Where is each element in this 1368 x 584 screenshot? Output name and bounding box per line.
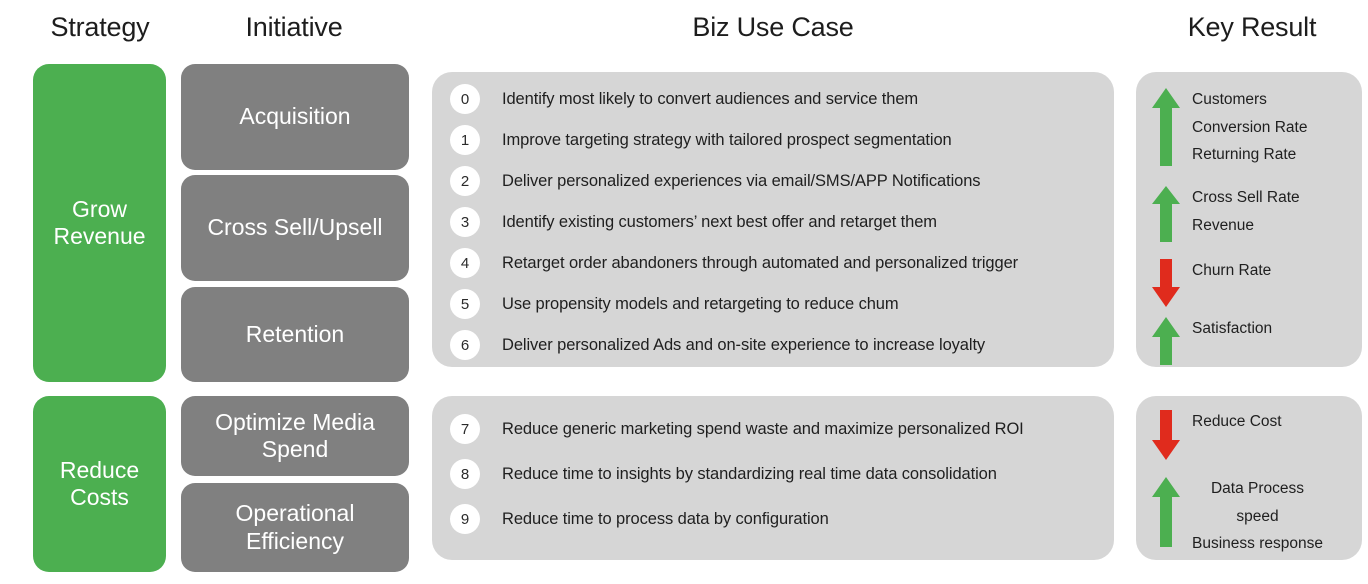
use-case-number-badge: 6 xyxy=(450,330,480,360)
use-case-number-badge: 8 xyxy=(450,459,480,489)
arrow-down-icon xyxy=(1150,257,1182,314)
use-case-row[interactable]: 1 Improve targeting strategy with tailor… xyxy=(450,126,1104,154)
use-case-row[interactable]: 3 Identify existing customers’ next best… xyxy=(450,208,1104,236)
key-result-label: Business response xyxy=(1192,530,1323,558)
use-case-text: Use propensity models and retargeting to… xyxy=(502,295,899,314)
use-case-text: Reduce time to process data by configura… xyxy=(502,510,829,529)
initiative-label-line1: Retention xyxy=(246,321,344,347)
use-case-number-badge: 5 xyxy=(450,289,480,319)
key-result-group[interactable]: Cross Sell Rate Revenue xyxy=(1150,184,1300,249)
biz-use-case-panel-growth: 0 Identify most likely to convert audien… xyxy=(432,72,1114,367)
initiative-box-cross-sell-upsell[interactable]: Cross Sell/Upsell xyxy=(181,175,409,281)
initiative-label-line2: Efficiency xyxy=(246,528,344,554)
key-result-panel-cost: Reduce Cost Data Process speed Business … xyxy=(1136,396,1362,560)
initiative-label: Operational Efficiency xyxy=(236,500,355,554)
use-case-text: Improve targeting strategy with tailored… xyxy=(502,131,952,150)
key-result-label: Data Process xyxy=(1192,475,1323,503)
use-case-text: Identify most likely to convert audience… xyxy=(502,90,918,109)
use-case-number-badge: 0 xyxy=(450,84,480,114)
initiative-box-acquisition[interactable]: Acquisition xyxy=(181,64,409,170)
strategy-label: Grow Revenue xyxy=(53,196,145,250)
use-case-number-badge: 9 xyxy=(450,504,480,534)
key-result-labels: Data Process speed Business response xyxy=(1192,475,1323,558)
arrow-down-icon xyxy=(1150,408,1182,467)
biz-use-case-panel-cost: 7 Reduce generic marketing spend waste a… xyxy=(432,396,1114,560)
key-result-label: Customers xyxy=(1192,86,1307,114)
use-case-number-badge: 7 xyxy=(450,414,480,444)
initiative-box-optimize-media-spend[interactable]: Optimize Media Spend xyxy=(181,396,409,476)
arrow-up-icon xyxy=(1150,184,1182,249)
initiative-label-line1: Cross Sell/Upsell xyxy=(207,214,382,240)
initiative-label-line1: Operational xyxy=(236,500,355,526)
use-case-number-badge: 2 xyxy=(450,166,480,196)
key-result-group[interactable]: Satisfaction xyxy=(1150,315,1272,372)
use-case-row[interactable]: 6 Deliver personalized Ads and on-site e… xyxy=(450,331,1104,359)
use-case-text: Reduce time to insights by standardizing… xyxy=(502,465,997,484)
key-result-label: speed xyxy=(1192,503,1323,531)
use-case-row[interactable]: 8 Reduce time to insights by standardizi… xyxy=(450,460,1104,488)
key-result-labels: Satisfaction xyxy=(1192,315,1272,343)
arrow-up-icon xyxy=(1150,86,1182,173)
initiative-label: Cross Sell/Upsell xyxy=(207,214,382,241)
use-case-number-badge: 3 xyxy=(450,207,480,237)
column-header-biz-use-case: Biz Use Case xyxy=(432,12,1114,43)
initiative-label: Optimize Media Spend xyxy=(215,409,375,463)
use-case-row[interactable]: 7 Reduce generic marketing spend waste a… xyxy=(450,415,1104,443)
strategy-box-reduce-costs[interactable]: Reduce Costs xyxy=(33,396,166,572)
key-result-label: Revenue xyxy=(1192,212,1300,240)
use-case-text: Deliver personalized Ads and on-site exp… xyxy=(502,336,985,355)
initiative-box-retention[interactable]: Retention xyxy=(181,287,409,382)
use-case-text: Identify existing customers’ next best o… xyxy=(502,213,937,232)
initiative-label: Retention xyxy=(246,321,344,348)
use-case-text: Reduce generic marketing spend waste and… xyxy=(502,420,1024,439)
use-case-number-badge: 4 xyxy=(450,248,480,278)
column-header-initiative: Initiative xyxy=(180,12,408,43)
initiative-label-line2: Spend xyxy=(262,436,329,462)
key-result-group[interactable]: Churn Rate xyxy=(1150,257,1271,314)
key-result-labels: Reduce Cost xyxy=(1192,408,1282,436)
use-case-number-badge: 1 xyxy=(450,125,480,155)
key-result-label: Reduce Cost xyxy=(1192,408,1282,436)
key-result-label: Churn Rate xyxy=(1192,257,1271,285)
column-header-key-result: Key Result xyxy=(1136,12,1368,43)
arrow-up-icon xyxy=(1150,475,1182,554)
use-case-row[interactable]: 5 Use propensity models and retargeting … xyxy=(450,290,1104,318)
strategy-label-line2: Revenue xyxy=(53,223,145,249)
key-result-labels: Cross Sell Rate Revenue xyxy=(1192,184,1300,239)
initiative-label-line1: Optimize Media xyxy=(215,409,375,435)
strategy-label-line1: Reduce xyxy=(60,457,139,483)
use-case-text: Deliver personalized experiences via ema… xyxy=(502,172,980,191)
arrow-up-icon xyxy=(1150,315,1182,372)
use-case-row[interactable]: 0 Identify most likely to convert audien… xyxy=(450,85,1104,113)
use-case-text: Retarget order abandoners through automa… xyxy=(502,254,1018,273)
key-result-label: Satisfaction xyxy=(1192,315,1272,343)
use-case-row[interactable]: 9 Reduce time to process data by configu… xyxy=(450,505,1104,533)
initiative-box-operational-efficiency[interactable]: Operational Efficiency xyxy=(181,483,409,572)
key-result-label: Conversion Rate xyxy=(1192,114,1307,142)
key-result-label: Cross Sell Rate xyxy=(1192,184,1300,212)
key-result-label: Returning Rate xyxy=(1192,141,1307,169)
strategy-label-line1: Grow xyxy=(72,196,127,222)
strategy-label: Reduce Costs xyxy=(60,457,139,511)
key-result-labels: Churn Rate xyxy=(1192,257,1271,285)
column-header-strategy: Strategy xyxy=(0,12,200,43)
use-case-row[interactable]: 2 Deliver personalized experiences via e… xyxy=(450,167,1104,195)
key-result-group[interactable]: Reduce Cost xyxy=(1150,408,1282,467)
strategy-box-grow-revenue[interactable]: Grow Revenue xyxy=(33,64,166,382)
key-result-panel-growth: Customers Conversion Rate Returning Rate… xyxy=(1136,72,1362,367)
use-case-row[interactable]: 4 Retarget order abandoners through auto… xyxy=(450,249,1104,277)
key-result-group[interactable]: Customers Conversion Rate Returning Rate xyxy=(1150,86,1307,173)
initiative-label: Acquisition xyxy=(239,103,350,130)
strategy-label-line2: Costs xyxy=(70,484,129,510)
initiative-label-line1: Acquisition xyxy=(239,103,350,129)
key-result-group[interactable]: Data Process speed Business response xyxy=(1150,475,1323,558)
key-result-labels: Customers Conversion Rate Returning Rate xyxy=(1192,86,1307,169)
